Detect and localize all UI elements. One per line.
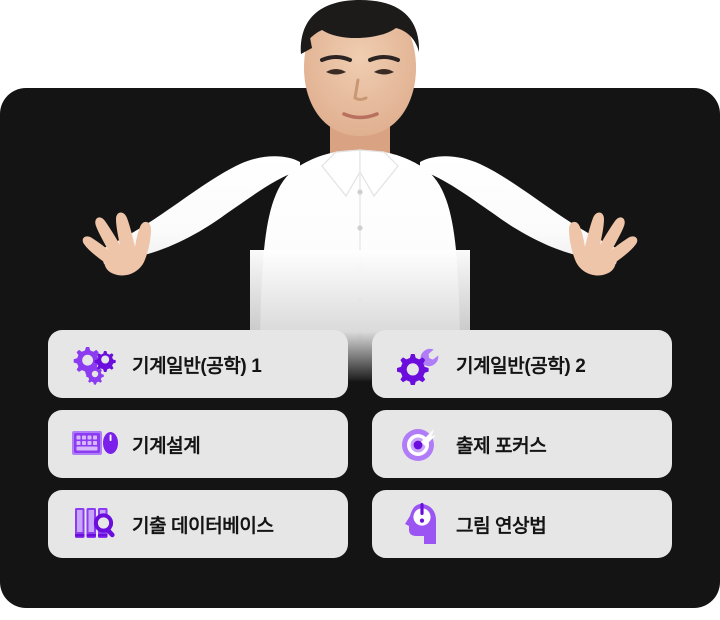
menu-button-past-exam-db[interactable]: 기출 데이터베이스 <box>48 490 348 558</box>
menu-button-exam-focus[interactable]: 출제 포커스 <box>372 410 672 478</box>
screenshot-root: 기계일반(공학) 1 기계일반(공학) 2 <box>0 0 720 620</box>
menu-button-label: 기출 데이터베이스 <box>132 511 274 538</box>
menu-button-label: 기계일반(공학) 1 <box>132 351 261 378</box>
menu-button-mech-design[interactable]: 기계설계 <box>48 410 348 478</box>
keyboard-mouse-icon <box>68 421 122 467</box>
menu-grid: 기계일반(공학) 1 기계일반(공학) 2 <box>48 330 672 558</box>
gears-icon <box>68 341 122 387</box>
menu-button-label: 기계일반(공학) 2 <box>456 351 585 378</box>
target-arrow-icon <box>392 421 446 467</box>
menu-button-picture-mnemonic[interactable]: 그림 연상법 <box>372 490 672 558</box>
menu-button-mech-general-1[interactable]: 기계일반(공학) 1 <box>48 330 348 398</box>
head-idea-icon <box>392 501 446 547</box>
menu-button-label: 기계설계 <box>132 431 200 458</box>
books-search-icon <box>68 501 122 547</box>
menu-button-mech-general-2[interactable]: 기계일반(공학) 2 <box>372 330 672 398</box>
menu-button-label: 그림 연상법 <box>456 511 546 538</box>
menu-button-label: 출제 포커스 <box>456 431 546 458</box>
gear-wrench-icon <box>392 341 446 387</box>
